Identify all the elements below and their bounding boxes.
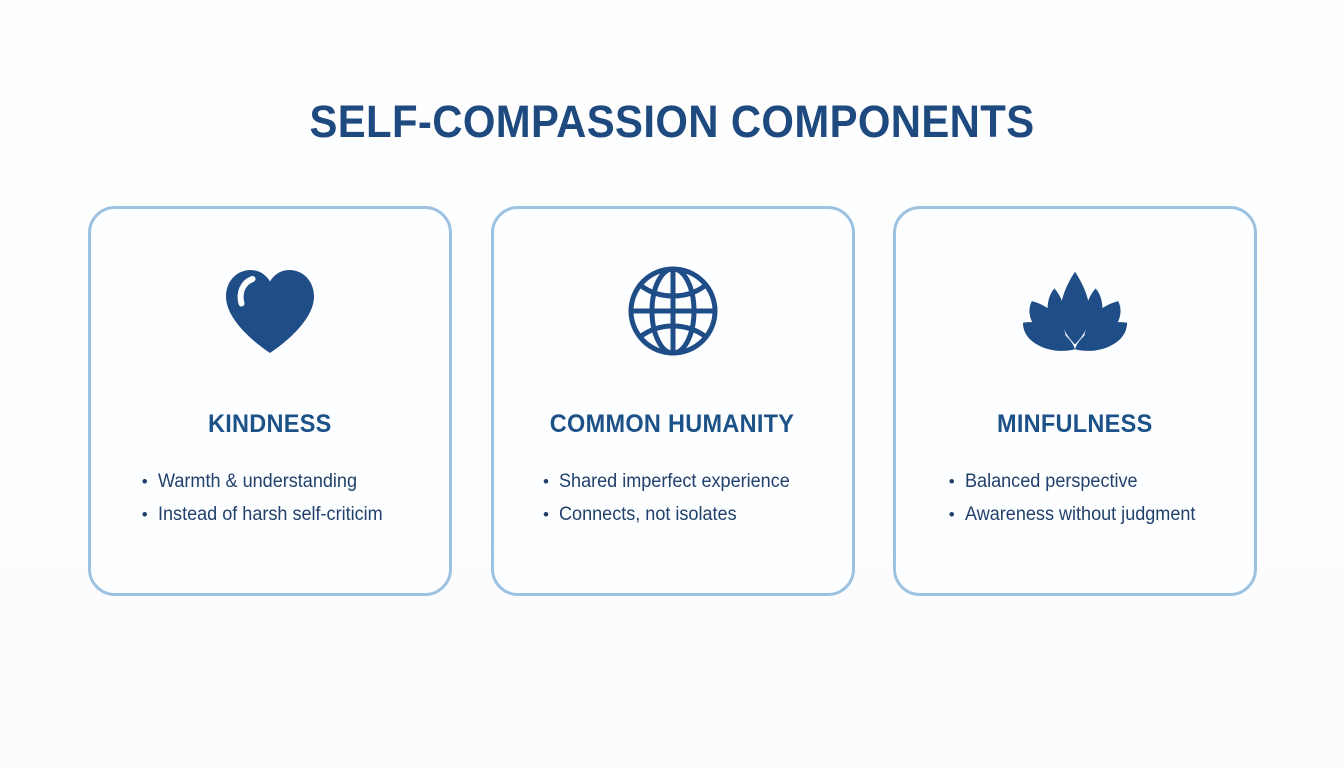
bullet-marker: • <box>543 465 559 498</box>
list-item: • Warmth & understanding <box>142 465 367 498</box>
page-title: SELF-COMPASSION COMPONENTS <box>47 96 1297 148</box>
bullet-list-mindfulness: • Balanced perspective • Awareness witho… <box>949 465 1208 531</box>
bullet-text: Awareness without judgment <box>965 498 1195 531</box>
bullet-text: Warmth & understanding <box>158 465 357 498</box>
list-item: • Balanced perspective <box>949 465 1147 498</box>
lotus-icon <box>1020 263 1130 359</box>
bullet-text: Balanced perspective <box>965 465 1138 498</box>
list-item: • Awareness without judgment <box>949 498 1208 531</box>
globe-icon <box>618 263 728 359</box>
list-item: • Connects, not isolates <box>543 498 746 531</box>
bullet-text: Instead of harsh self-criticim <box>158 498 383 531</box>
bullet-text: Shared imperfect experience <box>559 465 790 498</box>
card-mindfulness[interactable]: MINFULNESS • Balanced perspective • Awar… <box>893 206 1257 596</box>
component-card-row: KINDNESS • Warmth & understanding • Inst… <box>88 206 1257 596</box>
bullet-marker: • <box>949 465 965 498</box>
bullet-marker: • <box>949 498 965 531</box>
card-title-common-humanity: COMMON HUMANITY <box>550 409 794 439</box>
bullet-list-kindness: • Warmth & understanding • Instead of ha… <box>142 465 395 531</box>
infographic-poster: SELF-COMPASSION COMPONENTS KINDNESS • Wa… <box>0 0 1344 768</box>
bullet-marker: • <box>142 465 158 498</box>
card-kindness[interactable]: KINDNESS • Warmth & understanding • Inst… <box>88 206 452 596</box>
list-item: • Instead of harsh self-criticim <box>142 498 395 531</box>
heart-icon <box>215 263 325 359</box>
bullet-marker: • <box>543 498 559 531</box>
card-title-mindfulness: MINFULNESS <box>997 409 1153 439</box>
bullet-text: Connects, not isolates <box>559 498 737 531</box>
list-item: • Shared imperfect experience <box>543 465 802 498</box>
card-common-humanity[interactable]: COMMON HUMANITY • Shared imperfect exper… <box>491 206 855 596</box>
bullet-list-common-humanity: • Shared imperfect experience • Connects… <box>543 465 802 531</box>
bullet-marker: • <box>142 498 158 531</box>
card-title-kindness: KINDNESS <box>208 409 332 439</box>
